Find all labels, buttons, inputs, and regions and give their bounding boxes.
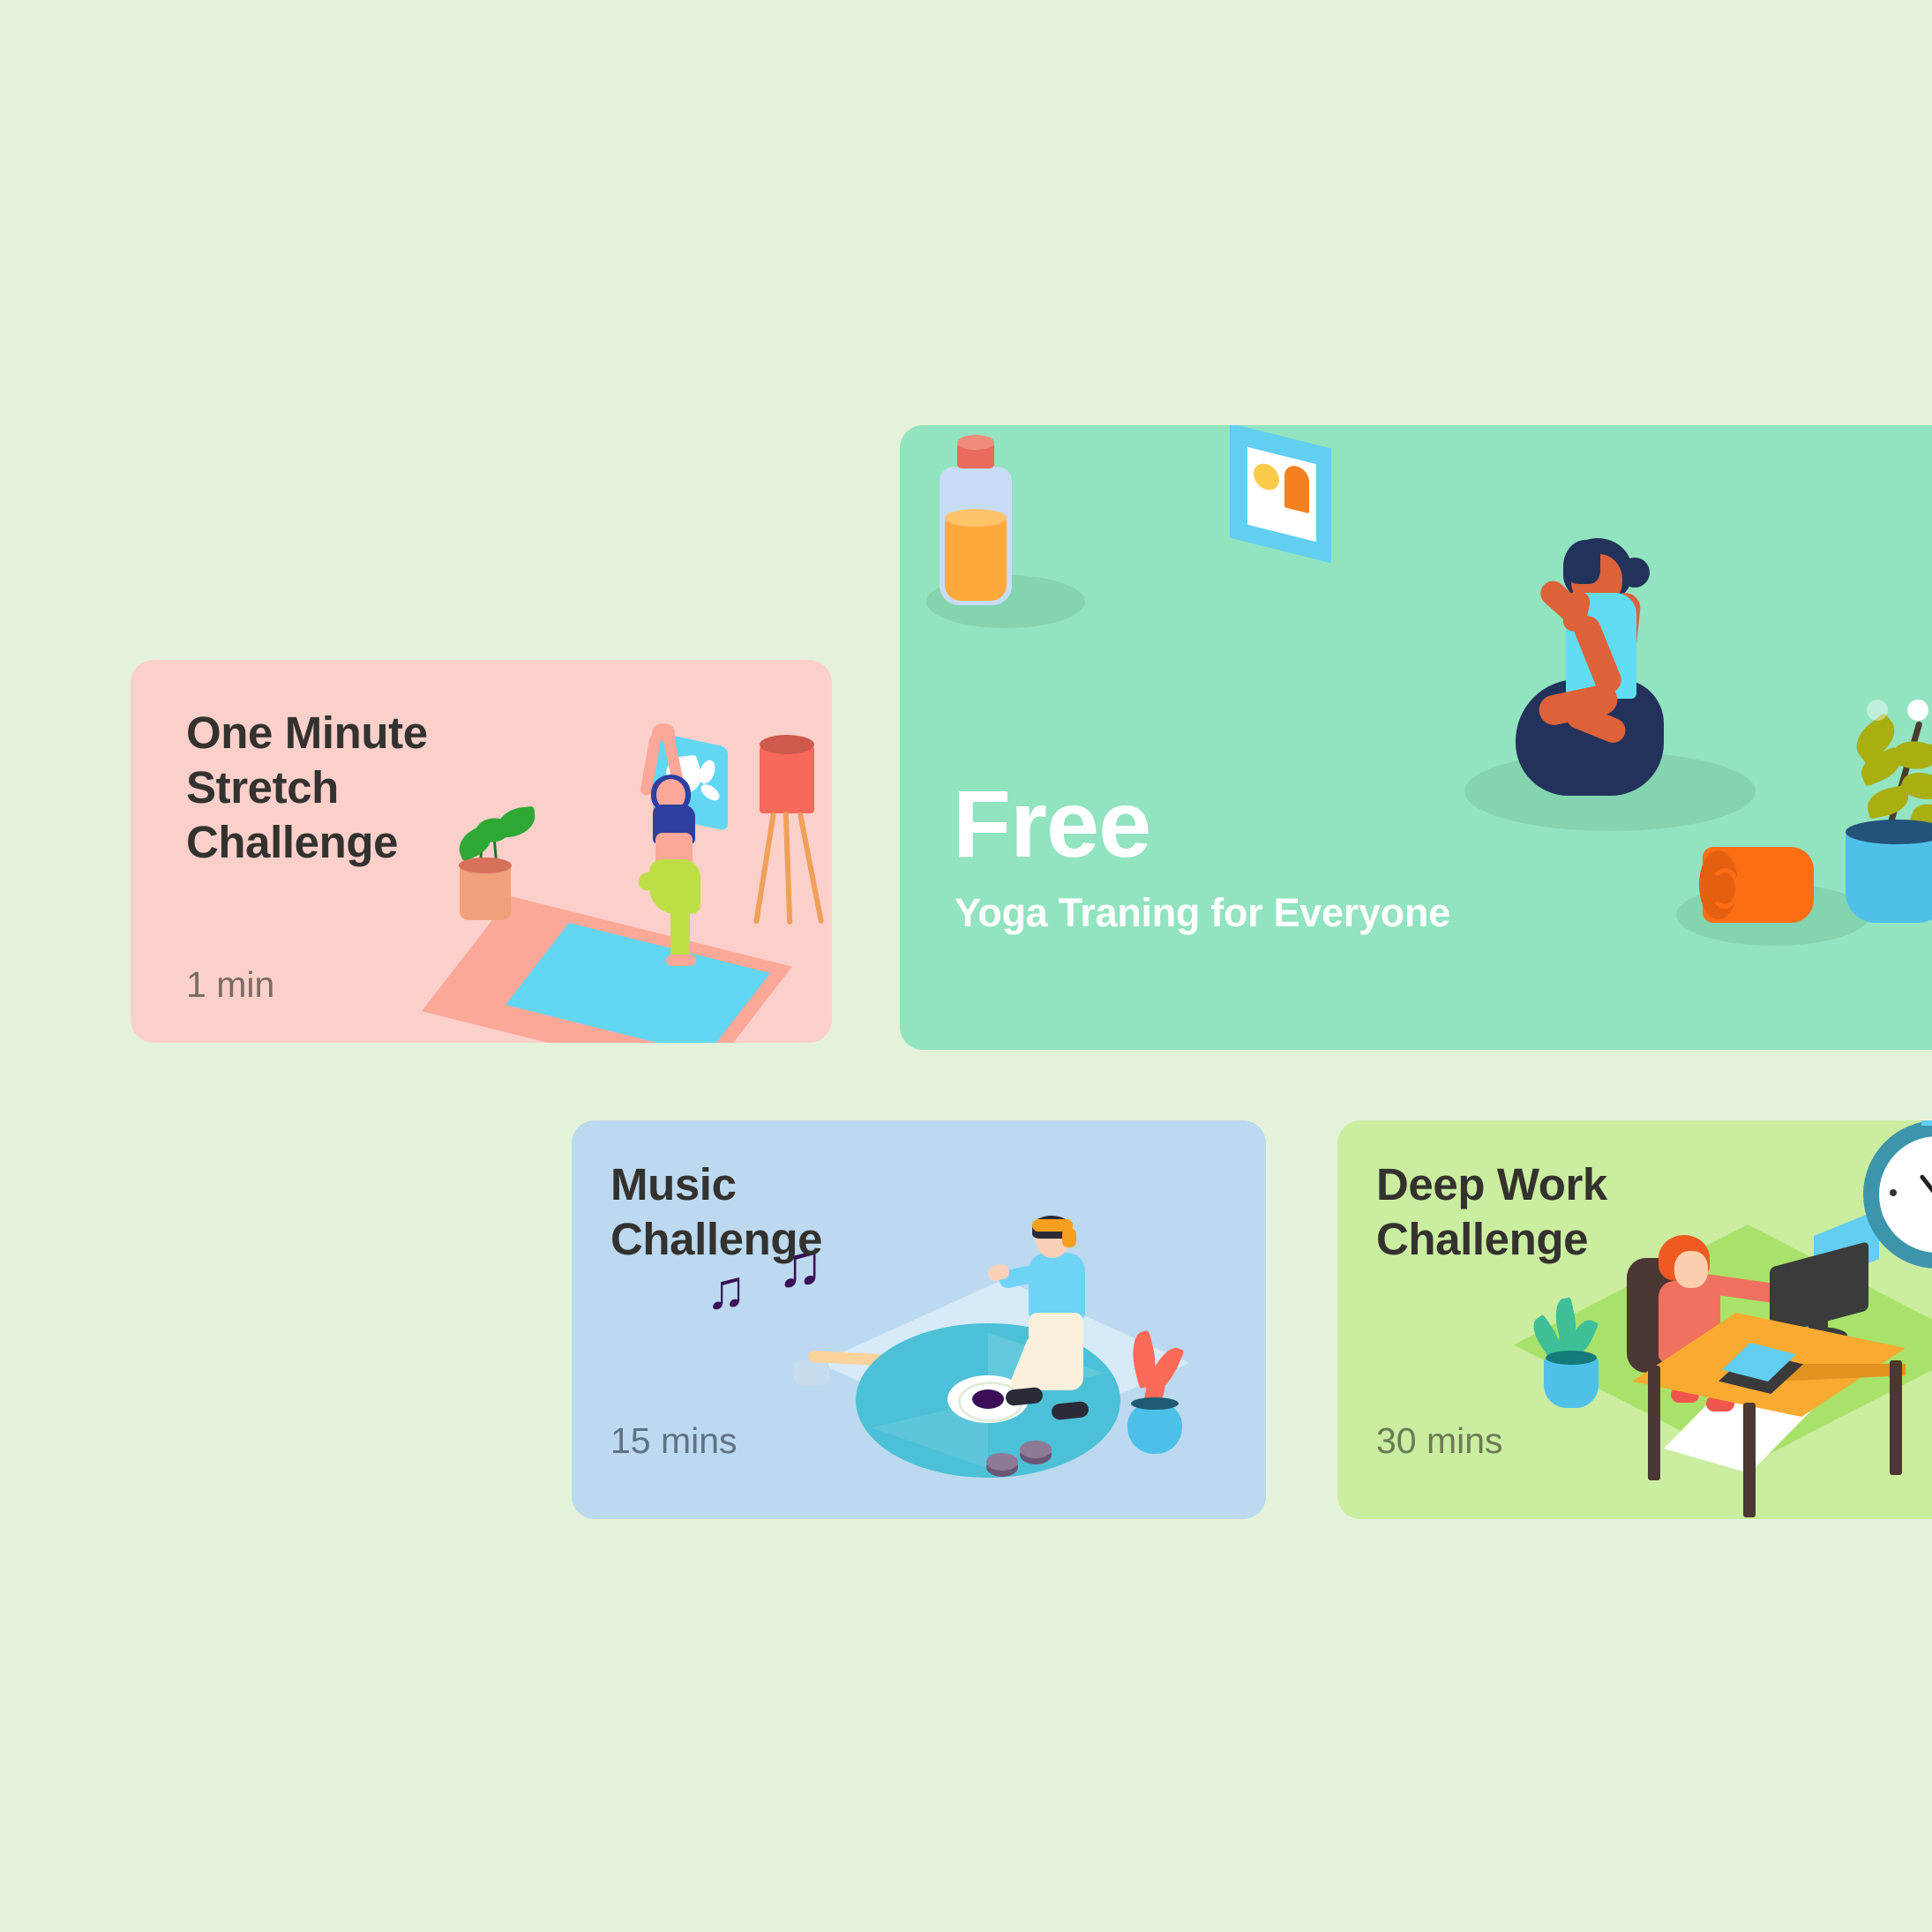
carousel-pagination[interactable] xyxy=(1867,700,1932,721)
carousel-dot-2-active[interactable] xyxy=(1907,700,1928,721)
yoga-person-figure xyxy=(620,729,726,958)
wall-frame-icon xyxy=(1230,425,1331,563)
water-bottle-icon xyxy=(940,442,1012,605)
card-title-deepwork: Deep Work Challenge xyxy=(1376,1157,1607,1267)
dancing-person-figure xyxy=(1013,1216,1119,1419)
banner-title: Free xyxy=(953,776,1150,872)
music-note-icon-1: ♫ xyxy=(706,1263,747,1318)
floor-lamp-icon xyxy=(760,745,814,813)
carousel-dot-1[interactable] xyxy=(1867,700,1888,721)
potted-plant-icon xyxy=(1524,1295,1621,1410)
challenge-card-music[interactable]: Music Challenge 15 mins ♫ ♫ xyxy=(572,1120,1266,1519)
card-title-stretch: One Minute Stretch Challenge xyxy=(186,706,428,871)
challenge-card-stretch[interactable]: One Minute Stretch Challenge 1 min xyxy=(131,660,832,1043)
challenge-card-deepwork[interactable]: Deep Work Challenge 30 mins xyxy=(1337,1120,1932,1519)
turntable-knob-1 xyxy=(986,1457,1018,1477)
rolled-yoga-mat-icon xyxy=(1703,847,1814,923)
card-duration-music: 15 mins xyxy=(610,1420,738,1462)
card-duration-stretch: 1 min xyxy=(186,964,274,1006)
card-title-music: Music Challenge xyxy=(610,1157,822,1267)
potted-plant-icon xyxy=(1817,708,1932,910)
promo-banner-free-yoga[interactable]: Free Yoga Traning for Everyone xyxy=(900,425,1932,1050)
turntable-knob-2 xyxy=(1020,1445,1052,1464)
card-duration-deepwork: 30 mins xyxy=(1376,1420,1503,1462)
tonearm-base xyxy=(794,1360,829,1385)
meditating-person-figure xyxy=(1516,538,1719,803)
app-canvas: One Minute Stretch Challenge 1 min xyxy=(0,0,1932,1932)
banner-subtitle: Yoga Traning for Everyone xyxy=(955,890,1450,936)
